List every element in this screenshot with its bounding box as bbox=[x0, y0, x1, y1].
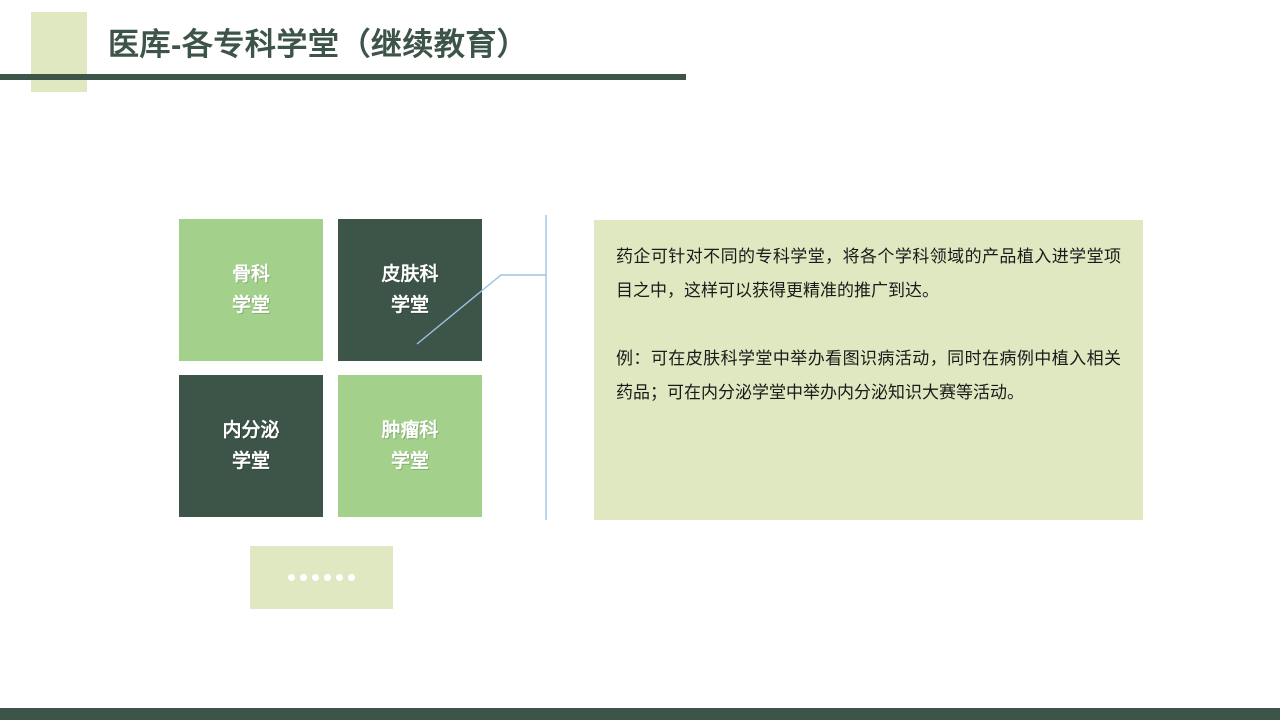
tile-endocrinology-line2: 学堂 bbox=[232, 446, 270, 477]
ellipsis-dot bbox=[324, 574, 331, 581]
page-title: 医库-各专科学堂（继续教育） bbox=[108, 23, 528, 67]
tile-orthopedics[interactable]: 骨科 学堂 bbox=[179, 219, 323, 361]
ellipsis-dot bbox=[348, 574, 355, 581]
ellipsis-dots-icon bbox=[288, 574, 355, 581]
tile-endocrinology-line1: 内分泌 bbox=[222, 415, 279, 446]
header-accent-block bbox=[31, 12, 87, 92]
tile-endocrinology[interactable]: 内分泌 学堂 bbox=[179, 375, 323, 517]
ellipsis-dot bbox=[336, 574, 343, 581]
header-divider-rule bbox=[0, 74, 686, 80]
footer-bar bbox=[0, 708, 1280, 720]
tile-more-ellipsis[interactable] bbox=[250, 546, 393, 609]
callout-connector-line bbox=[400, 205, 560, 535]
ellipsis-dot bbox=[300, 574, 307, 581]
ellipsis-dot bbox=[312, 574, 319, 581]
ellipsis-dot bbox=[288, 574, 295, 581]
description-paragraph-2: 例：可在皮肤科学堂中举办看图识病活动，同时在病例中植入相关药品；可在内分泌学堂中… bbox=[616, 342, 1121, 410]
tile-orthopedics-line1: 骨科 bbox=[232, 259, 270, 290]
tile-orthopedics-line2: 学堂 bbox=[232, 290, 270, 321]
description-panel: 药企可针对不同的专科学堂，将各个学科领域的产品植入进学堂项目之中，这样可以获得更… bbox=[594, 220, 1143, 520]
description-paragraph-1: 药企可针对不同的专科学堂，将各个学科领域的产品植入进学堂项目之中，这样可以获得更… bbox=[616, 240, 1121, 308]
